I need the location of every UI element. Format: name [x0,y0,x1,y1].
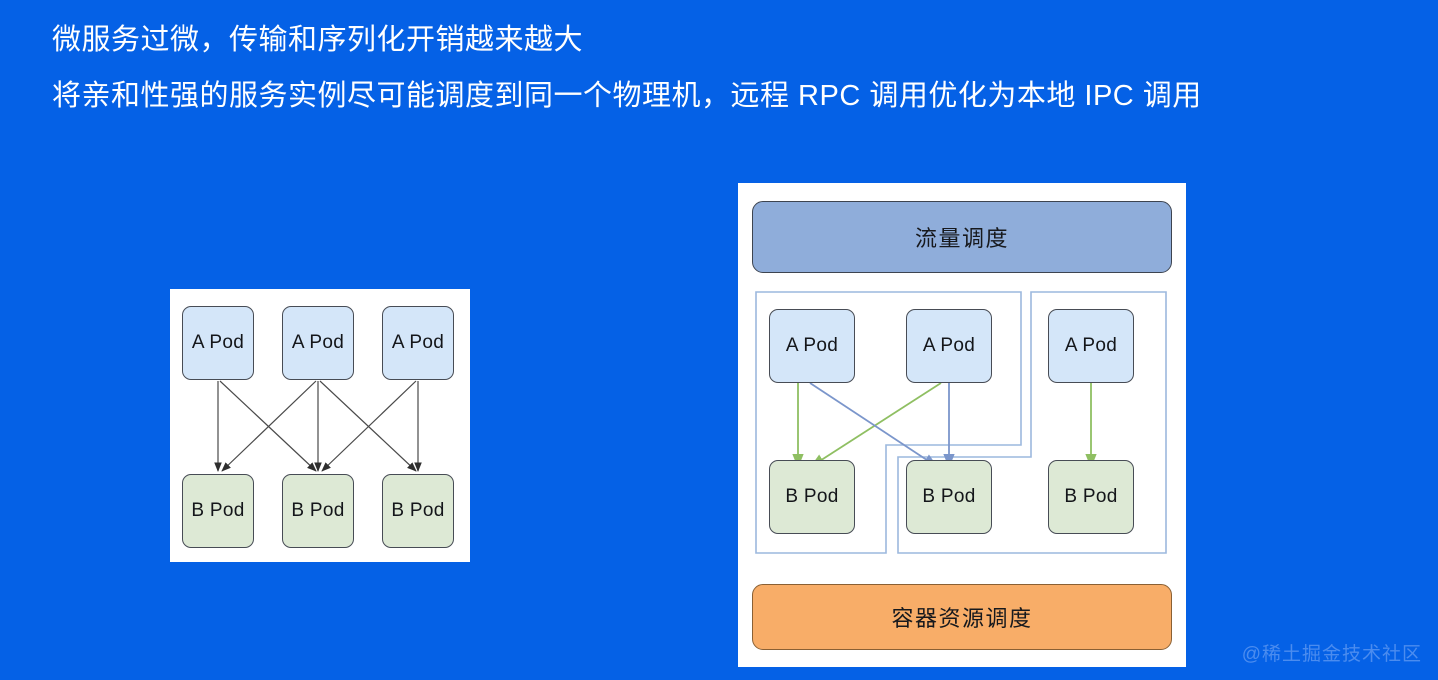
after-a-pod-1[interactable]: A Pod [769,309,855,383]
pod-label: A Pod [1065,335,1117,357]
arrow-a1-to-b2 [810,383,936,466]
after-b-pod-2[interactable]: B Pod [906,460,992,534]
pod-label: A Pod [192,332,244,354]
traffic-scheduling-label: 流量调度 [915,221,1009,253]
traffic-scheduling-bar[interactable]: 流量调度 [752,201,1172,273]
before-a-pod-2[interactable]: A Pod [282,306,354,380]
pod-label: A Pod [392,332,444,354]
headline-line-1: 微服务过微，传输和序列化开销越来越大 [52,12,1392,68]
after-diagram-canvas: 流量调度 [738,183,1186,667]
headline-block: 微服务过微，传输和序列化开销越来越大 将亲和性强的服务实例尽可能调度到同一个物理… [52,12,1392,124]
watermark: @稀土掘金技术社区 [1242,639,1422,666]
before-b-pod-1[interactable]: B Pod [182,474,254,548]
pod-label: A Pod [292,332,344,354]
after-diagram-panel: 流量调度 [738,183,1186,667]
pod-label: A Pod [923,335,975,357]
after-a-pod-3[interactable]: A Pod [1048,309,1134,383]
before-diagram-panel: A Pod A Pod A Pod B Pod B Pod B Pod [170,289,470,562]
before-b-pod-3[interactable]: B Pod [382,474,454,548]
pod-label: B Pod [785,486,838,508]
before-diagram-canvas: A Pod A Pod A Pod B Pod B Pod B Pod [170,289,470,562]
pod-label: B Pod [1064,486,1117,508]
container-resource-scheduling-bar[interactable]: 容器资源调度 [752,584,1172,650]
before-b-pod-2[interactable]: B Pod [282,474,354,548]
pod-label: B Pod [291,500,344,522]
container-resource-scheduling-label: 容器资源调度 [891,601,1032,633]
after-b-pod-1[interactable]: B Pod [769,460,855,534]
headline-line-2: 将亲和性强的服务实例尽可能调度到同一个物理机，远程 RPC 调用优化为本地 IP… [52,68,1392,124]
pod-label: B Pod [391,500,444,522]
pod-label: A Pod [786,335,838,357]
after-b-pod-3[interactable]: B Pod [1048,460,1134,534]
pod-label: B Pod [191,500,244,522]
after-a-pod-2[interactable]: A Pod [906,309,992,383]
pod-label: B Pod [922,486,975,508]
arrow-a2-to-b1 [812,383,941,466]
before-a-pod-3[interactable]: A Pod [382,306,454,380]
before-a-pod-1[interactable]: A Pod [182,306,254,380]
